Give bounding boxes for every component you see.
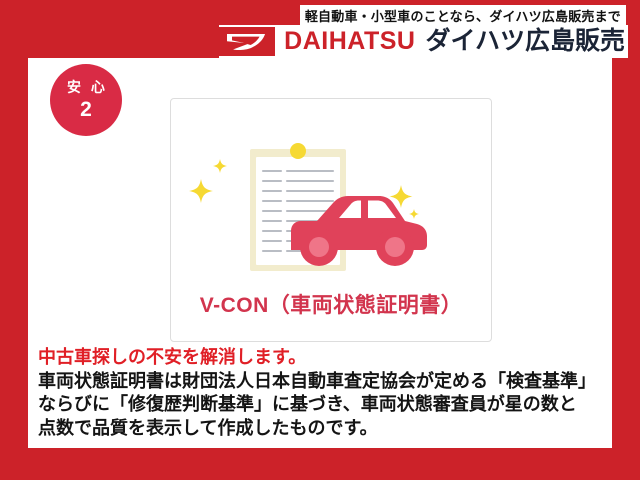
sparkle-star-icon-left: [189, 159, 227, 203]
vcon-illustration: [171, 133, 491, 273]
vcon-caption: V-CON（車両状態証明書）: [171, 289, 491, 319]
description-line-3: 点数で品質を表示して作成したものです。: [38, 417, 602, 440]
anshin-badge: 安 心 2: [50, 64, 122, 136]
description-lead: 中古車探しの不安を解消します。: [38, 346, 602, 370]
content-panel: 安 心 2: [28, 58, 612, 448]
vcon-card: V-CON（車両状態証明書）: [170, 98, 492, 342]
daihatsu-d-emblem-icon: [219, 27, 275, 56]
brand-jp-text: ダイハツ広島販売: [425, 29, 625, 54]
anshin-badge-label: 安 心: [64, 80, 108, 94]
description-block: 中古車探しの不安を解消します。 車両状態証明書は財団法人日本自動車査定協会が定め…: [38, 346, 602, 440]
description-line-1: 車両状態証明書は財団法人日本自動車査定協会が定める「検査基準」: [38, 370, 602, 393]
tagline-container: 軽自動車・小型車のことなら、ダイハツ広島販売まで: [300, 5, 626, 27]
anshin-badge-number: 2: [80, 99, 92, 120]
header-tagline: 軽自動車・小型車のことなら、ダイハツ広島販売まで: [305, 6, 621, 25]
brand-logo: DAIHATSU ダイハツ広島販売: [219, 25, 628, 58]
description-line-2: ならびに「修復歴判断基準」に基づき、車両状態審査員が星の数と: [38, 393, 602, 416]
promo-screen: 軽自動車・小型車のことなら、ダイハツ広島販売まで DAIHATSU ダイハツ広島…: [0, 0, 640, 480]
header-bar: 軽自動車・小型車のことなら、ダイハツ広島販売まで DAIHATSU ダイハツ広島…: [0, 0, 640, 58]
brand-latin-text: DAIHATSU: [284, 29, 415, 54]
